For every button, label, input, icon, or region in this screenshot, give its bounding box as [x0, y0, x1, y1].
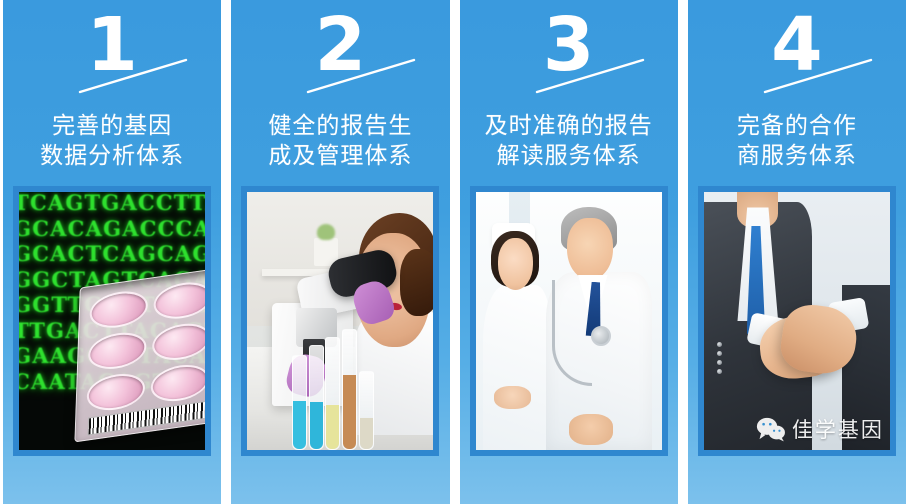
feature-card-3[interactable]: 3 及时准确的报告 解读服务体系 [460, 0, 678, 504]
headline-line-2: 商服务体系 [694, 140, 900, 170]
well [152, 320, 205, 363]
doctor-and-nurse-image [476, 192, 662, 450]
headline-line-2: 数据分析体系 [9, 140, 215, 170]
watermark: 佳学基因 [756, 414, 884, 444]
slash-decoration-3 [535, 56, 643, 92]
cell-culture-plate [74, 268, 205, 443]
dna-row: TCAGTGACCTTA [19, 192, 205, 215]
lab-hair-front [400, 249, 433, 316]
dna-row: GCACTCAGCAGC [19, 241, 205, 266]
photo-frame-1: TCAGTGACCTTA GCACAGACCCAA GCACTCAGCAGC G… [13, 186, 211, 456]
headline-line-2: 成及管理体系 [237, 140, 443, 170]
number-zone-2: 2 [231, 0, 449, 104]
number-zone-4: 4 [688, 0, 906, 104]
business-handshake-image: 佳学基因 [704, 192, 890, 450]
sleeve-buttons [717, 342, 721, 368]
slash-decoration-2 [306, 56, 414, 92]
photo-frame-3 [470, 186, 668, 456]
nurse-hands [494, 386, 531, 409]
watermark-brand: 佳学基因 [792, 414, 884, 444]
dna-sequence-and-cell-culture-plate-image: TCAGTGACCTTA GCACAGACCCAA GCACTCAGCAGC G… [19, 192, 205, 450]
well [150, 361, 205, 404]
feature-card-1[interactable]: 1 完善的基因 数据分析体系 TCAGTGACCTTA GCACAGACCCAA… [3, 0, 221, 504]
photo-frame-2 [241, 186, 439, 456]
headline-line-1: 健全的报告生 [237, 110, 443, 140]
doctor-face [567, 218, 614, 280]
nurse-face [498, 238, 533, 290]
dna-row: GCACAGACCCAA [19, 216, 205, 241]
slash-decoration-4 [763, 56, 871, 92]
scientist-using-microscope-image [247, 192, 433, 450]
test-tube [342, 329, 357, 450]
stethoscope-bell [591, 326, 611, 346]
nurse-uniform [483, 285, 550, 450]
card-headline-4: 完备的合作 商服务体系 [688, 110, 906, 170]
headline-line-1: 完善的基因 [9, 110, 215, 140]
test-tube [292, 355, 307, 450]
number-zone-1: 1 [3, 0, 221, 104]
well [89, 288, 148, 331]
card-headline-3: 及时准确的报告 解读服务体系 [460, 110, 678, 170]
photo-frame-4: 佳学基因 [698, 186, 896, 456]
well [86, 370, 145, 413]
cards-row: 1 完善的基因 数据分析体系 TCAGTGACCTTA GCACAGACCCAA… [0, 0, 909, 504]
plate-wells [86, 279, 205, 414]
slash-decoration-1 [78, 56, 186, 92]
card-headline-2: 健全的报告生 成及管理体系 [231, 110, 449, 170]
infographic-canvas: 1 完善的基因 数据分析体系 TCAGTGACCTTA GCACAGACCCAA… [0, 0, 909, 504]
headline-line-1: 完备的合作 [694, 110, 900, 140]
doctor-hands [569, 414, 614, 445]
headline-line-2: 解读服务体系 [466, 140, 672, 170]
test-tube [309, 345, 324, 450]
card-headline-1: 完善的基因 数据分析体系 [3, 110, 221, 170]
feature-card-4[interactable]: 4 完备的合作 商服务体系 [688, 0, 906, 504]
number-zone-3: 3 [460, 0, 678, 104]
test-tube [359, 371, 374, 450]
well [153, 279, 205, 322]
well [88, 329, 147, 372]
test-tube [325, 337, 340, 450]
feature-card-2[interactable]: 2 健全的报告生 成及管理体系 [231, 0, 449, 504]
headline-line-1: 及时准确的报告 [466, 110, 672, 140]
wechat-icon [756, 416, 786, 442]
